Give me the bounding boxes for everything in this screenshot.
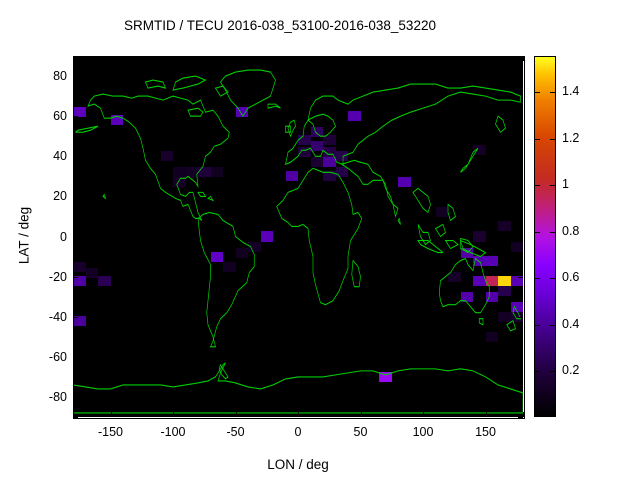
x-tick-label: 150 — [475, 425, 496, 439]
x-tick — [111, 412, 112, 417]
y-tick — [518, 397, 523, 398]
x-tick — [236, 56, 237, 61]
colorbar[interactable] — [534, 56, 556, 417]
y-tick-label: 0 — [29, 230, 67, 244]
colorbar-tick — [535, 232, 540, 233]
x-tick — [486, 412, 487, 417]
y-tick — [518, 317, 523, 318]
y-tick-label: -40 — [29, 310, 67, 324]
y-tick-label: 60 — [29, 109, 67, 123]
x-tick — [523, 56, 524, 61]
colorbar-tick — [550, 325, 555, 326]
y-tick-label: 40 — [29, 149, 67, 163]
x-axis-label: LON / deg — [73, 457, 523, 472]
y-tick — [518, 357, 523, 358]
x-tick-label: 50 — [354, 425, 368, 439]
y-tick — [73, 357, 78, 358]
map-plot-area[interactable] — [73, 56, 523, 417]
colorbar-tick-label: 1.2 — [562, 131, 579, 145]
x-tick — [486, 56, 487, 61]
x-tick-label: -150 — [98, 425, 123, 439]
colorbar-tick-label: 1.4 — [562, 84, 579, 98]
x-tick — [298, 412, 299, 417]
y-tick — [518, 56, 523, 57]
y-tick — [518, 237, 523, 238]
colorbar-tick — [550, 371, 555, 372]
y-tick — [73, 317, 78, 318]
y-axis-label: LAT / deg — [17, 176, 32, 296]
y-tick-label: -60 — [29, 350, 67, 364]
x-tick — [111, 56, 112, 61]
colorbar-tick — [550, 232, 555, 233]
y-tick — [518, 156, 523, 157]
x-tick — [173, 56, 174, 61]
y-tick — [73, 56, 78, 57]
y-tick-label: 80 — [29, 69, 67, 83]
colorbar-tick — [550, 92, 555, 93]
y-tick — [73, 156, 78, 157]
colorbar-tick-label: 0.6 — [562, 270, 579, 284]
x-tick — [423, 56, 424, 61]
y-tick — [73, 417, 78, 418]
x-tick — [423, 412, 424, 417]
colorbar-tick — [535, 371, 540, 372]
y-tick — [73, 76, 78, 77]
y-tick — [73, 196, 78, 197]
x-tick — [361, 56, 362, 61]
y-tick — [518, 76, 523, 77]
x-tick — [298, 56, 299, 61]
x-tick — [361, 412, 362, 417]
colorbar-tick — [550, 185, 555, 186]
y-tick — [73, 116, 78, 117]
colorbar-tick — [535, 325, 540, 326]
colorbar-gradient — [535, 57, 555, 416]
colorbar-tick — [550, 278, 555, 279]
colorbar-tick-label: 0.8 — [562, 224, 579, 238]
y-tick — [518, 116, 523, 117]
x-tick — [236, 412, 237, 417]
colorbar-tick — [535, 92, 540, 93]
y-tick — [518, 277, 523, 278]
coastlines-overlay — [73, 56, 523, 417]
x-tick — [173, 412, 174, 417]
x-tick — [523, 412, 524, 417]
colorbar-tick — [535, 139, 540, 140]
y-tick — [518, 196, 523, 197]
y-tick-label: -80 — [29, 390, 67, 404]
colorbar-tick — [550, 139, 555, 140]
colorbar-tick-label: 0.4 — [562, 317, 579, 331]
colorbar-tick-label: 0.2 — [562, 363, 579, 377]
y-tick — [73, 277, 78, 278]
y-tick-label: -20 — [29, 270, 67, 284]
colorbar-tick — [535, 278, 540, 279]
x-tick-label: -100 — [160, 425, 185, 439]
x-tick-label: -50 — [226, 425, 244, 439]
page-title: SRMTID / TECU 2016-038_53100-2016-038_53… — [0, 18, 560, 33]
colorbar-tick — [535, 185, 540, 186]
y-tick-label: 20 — [29, 189, 67, 203]
x-tick-label: 0 — [295, 425, 302, 439]
colorbar-tick-label: 1 — [562, 177, 569, 191]
y-tick — [73, 397, 78, 398]
y-tick — [73, 237, 78, 238]
y-tick — [518, 417, 523, 418]
x-tick-label: 100 — [413, 425, 434, 439]
